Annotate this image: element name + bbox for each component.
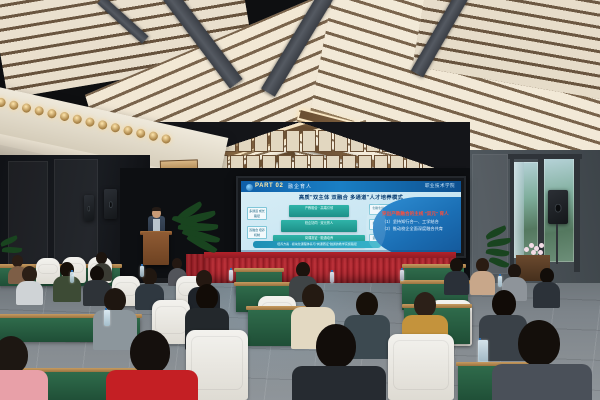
slide-bottom-strip: 培养方案 · 模块化课程体系与"岗课赛证"融通的教学实施路径 — [253, 241, 381, 248]
potted-plant-left — [0, 232, 26, 272]
slide-highlight-line-1: （1）坚持知行合一、工学结合 — [382, 219, 439, 225]
slide-highlight-line-2: （2）推动校企全面深度融合共育 — [382, 226, 443, 232]
podium — [143, 233, 169, 265]
water-bottle — [229, 270, 233, 281]
water-bottle — [140, 266, 144, 277]
slide-sidebox-left-1: 多通道 成长路径 — [247, 207, 267, 220]
slide-badge-icon — [246, 184, 253, 191]
slide-wave-panel: 突出产教融合的主线 "双元" 育人 （1）坚持知行合一、工学结合 （2）推动校企… — [373, 197, 461, 253]
water-bottle — [70, 272, 74, 283]
downlight — [161, 134, 172, 145]
slide-pyramid-layer-1: 产教融合 · 高端引领 — [289, 205, 349, 217]
downlight — [34, 106, 45, 117]
downlight — [0, 97, 6, 108]
potted-plant-stage — [172, 206, 228, 254]
slide-highlight-heading: 突出产教融合的主线 "双元" 育人 — [382, 211, 449, 217]
slide-part-label: PART 02 — [255, 183, 283, 189]
downlight — [21, 103, 32, 114]
window-mullion — [574, 154, 580, 272]
speaker-box-right — [548, 190, 568, 224]
speaker-hair — [152, 207, 161, 211]
downlight — [97, 120, 108, 131]
slide-pyramid-layer-2: 校企协同 · 双元育人 — [281, 220, 357, 232]
curtain — [514, 162, 524, 258]
conference-hall-photo: PART 02 融企育人 职业技术学院 高质"双主体 双融合 多通道"人才培养模… — [0, 0, 600, 400]
window-header — [508, 154, 582, 159]
speaker-box-left — [104, 189, 117, 219]
flower-arrangement — [524, 243, 546, 257]
water-bottle — [498, 276, 502, 287]
speaker-stand — [556, 224, 558, 264]
downlight — [135, 128, 146, 139]
downlight — [148, 131, 159, 142]
ceiling — [0, 0, 600, 172]
projection-screen: PART 02 融企育人 职业技术学院 高质"双主体 双融合 多通道"人才培养模… — [236, 176, 466, 258]
downlight — [72, 114, 83, 125]
slide-sidebox-left-2: 双融合 培养机制 — [247, 226, 267, 239]
water-bottle — [330, 272, 334, 283]
downlight — [110, 122, 121, 133]
downlight — [47, 108, 58, 119]
chair — [388, 334, 454, 400]
slide-part-subtitle: 融企育人 — [288, 183, 312, 190]
downlight — [123, 125, 134, 136]
water-bottle — [400, 270, 404, 281]
water-bottle — [104, 310, 110, 326]
speaker-box-left-2 — [84, 195, 94, 221]
presentation-slide: PART 02 融企育人 职业技术学院 高质"双主体 双融合 多通道"人才培养模… — [241, 181, 461, 253]
downlight — [85, 117, 96, 128]
slide-org-label: 职业技术学院 — [425, 183, 455, 189]
downlight — [8, 100, 19, 111]
downlight — [59, 111, 70, 122]
